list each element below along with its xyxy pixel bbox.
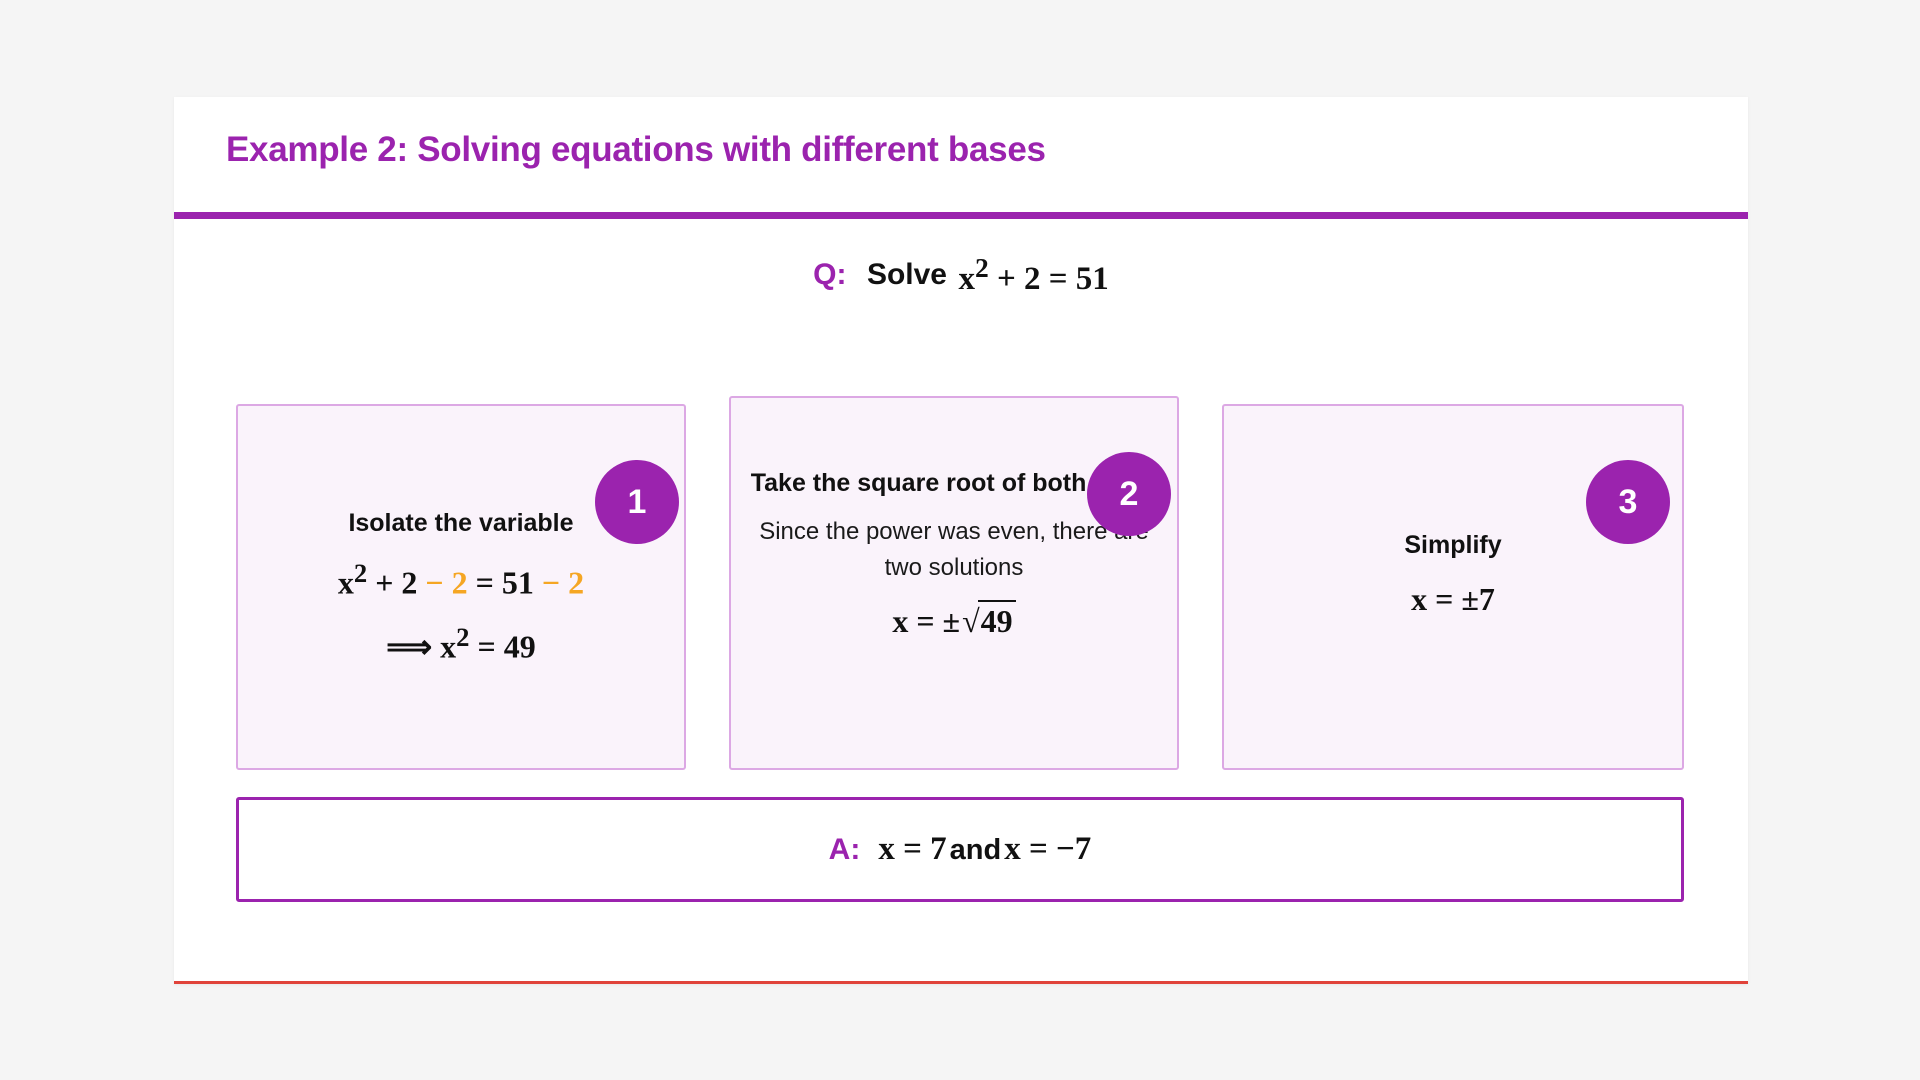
step-card-2: Take the square root of both sides Since… — [729, 396, 1179, 770]
step-1-exponent: 2 — [354, 558, 367, 588]
step-1-math-line-1: x2 + 2 − 2 = 51 − 2 — [252, 554, 670, 606]
step-1-result-exponent: 2 — [456, 622, 469, 652]
step-badge-1-number: 1 — [628, 483, 647, 522]
step-1-result-rest: = 49 — [477, 628, 535, 664]
step-1-accent-term-b: − 2 — [542, 564, 584, 600]
answer-part-1: x = 7 — [878, 831, 946, 867]
panel-bottom-rule — [174, 981, 1748, 984]
answer-part-2: x = −7 — [1004, 831, 1091, 867]
step-1-equals: = 51 — [476, 564, 534, 600]
step-2-math: x = ±√49 — [745, 598, 1163, 644]
implies-icon: ⟹ — [386, 628, 432, 664]
step-card-3: Simplify x = ±7 — [1222, 404, 1684, 770]
step-1-variable: x — [338, 564, 354, 600]
lesson-panel: Example 2: Solving equations with differ… — [174, 97, 1748, 984]
step-2-math-prefix: x = ± — [892, 603, 960, 639]
step-2-radicand: 49 — [978, 600, 1016, 639]
step-badge-3: 3 — [1586, 460, 1670, 544]
step-1-accent-term-a: − 2 — [425, 564, 467, 600]
sqrt-icon: √49 — [960, 598, 1016, 644]
step-3-body: Simplify x = ±7 — [1224, 528, 1682, 622]
answer-conjunction: and — [950, 834, 1002, 866]
step-card-1: Isolate the variable x2 + 2 − 2 = 51 − 2… — [236, 404, 686, 770]
answer-label: A: — [829, 833, 861, 867]
page-root: Example 2: Solving equations with differ… — [0, 0, 1920, 1080]
answer-box: A: x = 7andx = −7 — [236, 797, 1684, 902]
step-badge-2-number: 2 — [1120, 475, 1139, 514]
step-badge-3-number: 3 — [1619, 483, 1638, 522]
step-badge-2: 2 — [1087, 452, 1171, 536]
step-1-math-line-2: ⟹ x2 = 49 — [252, 618, 670, 670]
step-3-math: x = ±7 — [1238, 576, 1668, 622]
step-1-mid: + 2 — [375, 564, 417, 600]
step-badge-1: 1 — [595, 460, 679, 544]
answer-expression: x = 7andx = −7 — [878, 831, 1091, 868]
step-1-result-variable: x — [440, 628, 456, 664]
